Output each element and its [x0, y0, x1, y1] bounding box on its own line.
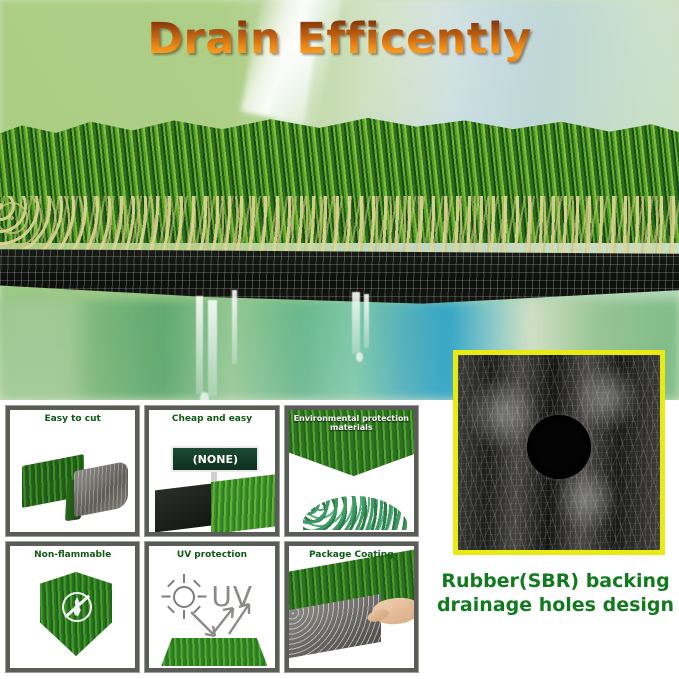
reflected-ray-arrow-icon	[225, 598, 255, 638]
feature-cell-environmental-protection-materials[interactable]: Environmental protection materials	[285, 406, 418, 536]
price-sign-text: (NONE)	[193, 453, 238, 466]
drain-stream	[208, 300, 217, 396]
turf-backing	[0, 248, 679, 306]
turf-sheet	[211, 474, 278, 534]
price-sign-icon: (NONE)	[171, 446, 259, 472]
caption-line-2: drainage holes design	[432, 594, 679, 618]
rubber-backing-photo	[453, 350, 665, 555]
feature-label: Environmental protection materials	[289, 414, 414, 432]
feature-label: Cheap and easy	[149, 414, 274, 424]
feature-label: Easy to cut	[10, 414, 135, 424]
water-drop-icon	[356, 352, 363, 362]
feature-cell-cheap-and-easy[interactable]: Cheap and easy (NONE)	[145, 406, 278, 536]
feature-cell-non-flammable[interactable]: Non-flammable	[6, 542, 139, 672]
turf-patch-icon	[161, 638, 267, 666]
feature-cell-uv-protection[interactable]: UV protection UV	[145, 542, 278, 672]
turf-thatch	[0, 196, 679, 258]
drain-stream	[364, 294, 369, 348]
feature-label: Non-flammable	[10, 550, 135, 560]
feature-label: UV protection	[149, 550, 274, 560]
product-infographic: Drain Efficently Easy to cut Cheap and e…	[0, 0, 679, 679]
caption-line-1: Rubber(SBR) backing	[432, 570, 679, 594]
sun-icon	[173, 586, 195, 608]
water-drop-icon	[200, 392, 209, 400]
feature-grid: Easy to cut Cheap and easy (NONE) Enviro…	[6, 406, 418, 672]
feature-cell-easy-to-cut[interactable]: Easy to cut	[6, 406, 139, 536]
turf-cross-section	[0, 118, 679, 308]
rubber-caption: Rubber(SBR) backing drainage holes desig…	[432, 570, 679, 618]
page-title: Drain Efficently	[0, 14, 679, 64]
feature-label: Package Coating	[289, 550, 414, 560]
drain-stream	[232, 290, 237, 364]
drainage-hole-icon	[527, 415, 591, 479]
feature-cell-package-coating[interactable]: Package Coating	[285, 542, 418, 672]
green-pellets-icon	[303, 496, 407, 530]
drain-stream	[352, 292, 360, 354]
drain-stream	[196, 296, 203, 394]
rolled-turf-icon	[22, 448, 130, 516]
